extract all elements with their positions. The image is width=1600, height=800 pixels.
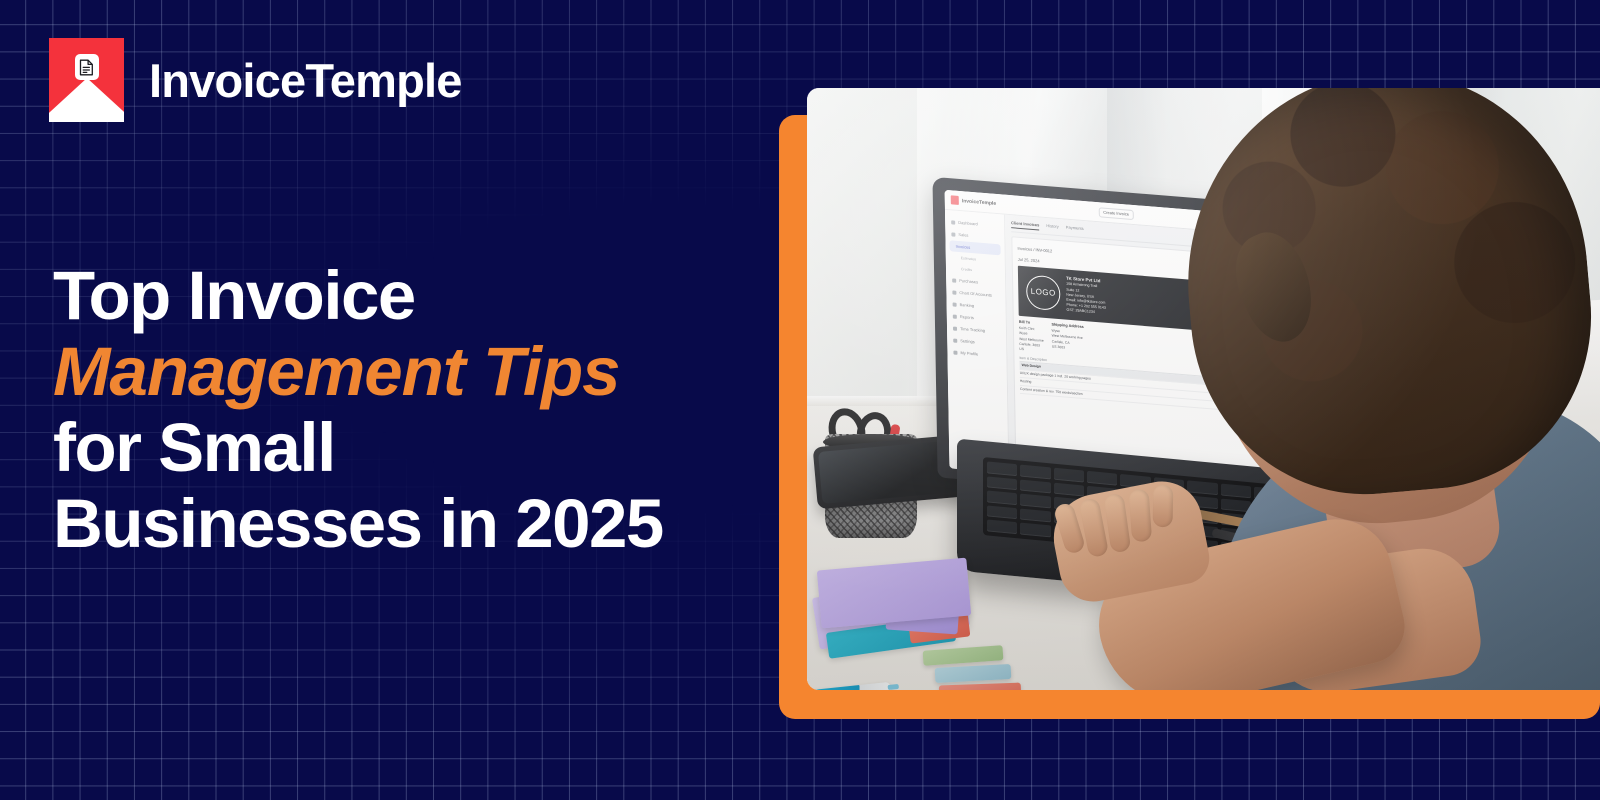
invoice-logo-placeholder: LOGO xyxy=(1026,274,1061,311)
sidebar-item-label: Settings xyxy=(960,338,975,344)
finger xyxy=(1103,493,1131,553)
book-icon xyxy=(952,290,956,294)
brand-name: InvoiceTemple xyxy=(149,57,462,104)
bill-to-block: Bill To Keith Clint Wyse West Melbourne … xyxy=(1019,319,1044,353)
house-roof-shape xyxy=(49,78,124,122)
app-logo-icon xyxy=(951,195,959,205)
gear-icon xyxy=(953,338,957,342)
headline-line-3: for Small xyxy=(53,410,713,486)
page-title: Top Invoice Management Tips for Small Bu… xyxy=(53,258,713,562)
invoicetemple-logo-icon xyxy=(49,38,124,122)
sidebar-item-label: Invoices xyxy=(956,244,971,250)
document-date: Jul 25, 2024 xyxy=(1018,257,1040,264)
hero-photo: InvoiceTemple Create Invoice Edit Print … xyxy=(807,88,1600,690)
green-sticky-tab xyxy=(923,645,1004,666)
paper-stack xyxy=(813,558,1063,678)
breadcrumb: Invoices / INV-0012 xyxy=(1017,245,1052,253)
sidebar-item-label: Sales xyxy=(958,232,968,238)
sidebar-item-label: Reports xyxy=(960,314,974,320)
finger xyxy=(1129,489,1153,542)
sidebar-item-label: Dashboard xyxy=(958,220,978,227)
app-logo[interactable]: InvoiceTemple xyxy=(951,195,997,208)
banner-root: InvoiceTemple Top Invoice Management Tip… xyxy=(0,0,1600,800)
shipping-block: Shipping Address Wyse West Melbourne Ave… xyxy=(1051,322,1084,357)
shipping-line: US 3003 xyxy=(1052,344,1065,349)
sidebar-item-label: Estimates xyxy=(961,256,976,261)
sidebar-item-label: Purchases xyxy=(959,278,978,285)
person-hair xyxy=(1170,88,1600,509)
headline-line-1: Top Invoice xyxy=(53,258,713,334)
tab-history[interactable]: History xyxy=(1046,223,1059,232)
shipping-line: Wyse xyxy=(1052,329,1061,334)
headline-line-2: Management Tips xyxy=(53,334,713,410)
create-invoice-button[interactable]: Create Invoice xyxy=(1098,207,1134,220)
user-icon xyxy=(953,350,957,354)
bank-icon xyxy=(953,302,957,306)
app-sidebar: Dashboard Sales Invoices Estimates Credi… xyxy=(945,210,1009,473)
sidebar-item-label: My Profile xyxy=(960,350,978,356)
tab-client-invoices[interactable]: Client Invoices xyxy=(1011,220,1039,230)
tab-payments[interactable]: Payments xyxy=(1066,225,1084,234)
chart-icon xyxy=(953,314,957,318)
brand-lockup[interactable]: InvoiceTemple xyxy=(49,38,462,122)
sidebar-item-label: Credits xyxy=(961,267,972,272)
sidebar-item-label: Banking xyxy=(960,302,975,308)
headline-line-4: Businesses in 2025 xyxy=(53,486,713,562)
document-icon xyxy=(75,54,99,80)
office-scene: InvoiceTemple Create Invoice Edit Print … xyxy=(807,88,1600,690)
finger xyxy=(1153,485,1174,527)
sidebar-item-label: Time Tracking xyxy=(960,326,985,333)
grid-icon xyxy=(951,220,955,224)
cart-icon xyxy=(951,232,955,236)
sidebar-item-label: Chart Of Accounts xyxy=(959,290,992,298)
app-logo-text: InvoiceTemple xyxy=(962,198,996,207)
invoice-from-line: Suite 12 xyxy=(1066,287,1079,292)
bill-to-line: Wyse xyxy=(1019,331,1028,336)
hero-image-block: InvoiceTemple Create Invoice Edit Print … xyxy=(779,88,1600,720)
clock-icon xyxy=(953,326,957,330)
bag-icon xyxy=(952,278,956,282)
bill-to-line: US xyxy=(1019,347,1024,351)
invoice-from-line: GST: 29ABC1234 xyxy=(1066,308,1094,314)
